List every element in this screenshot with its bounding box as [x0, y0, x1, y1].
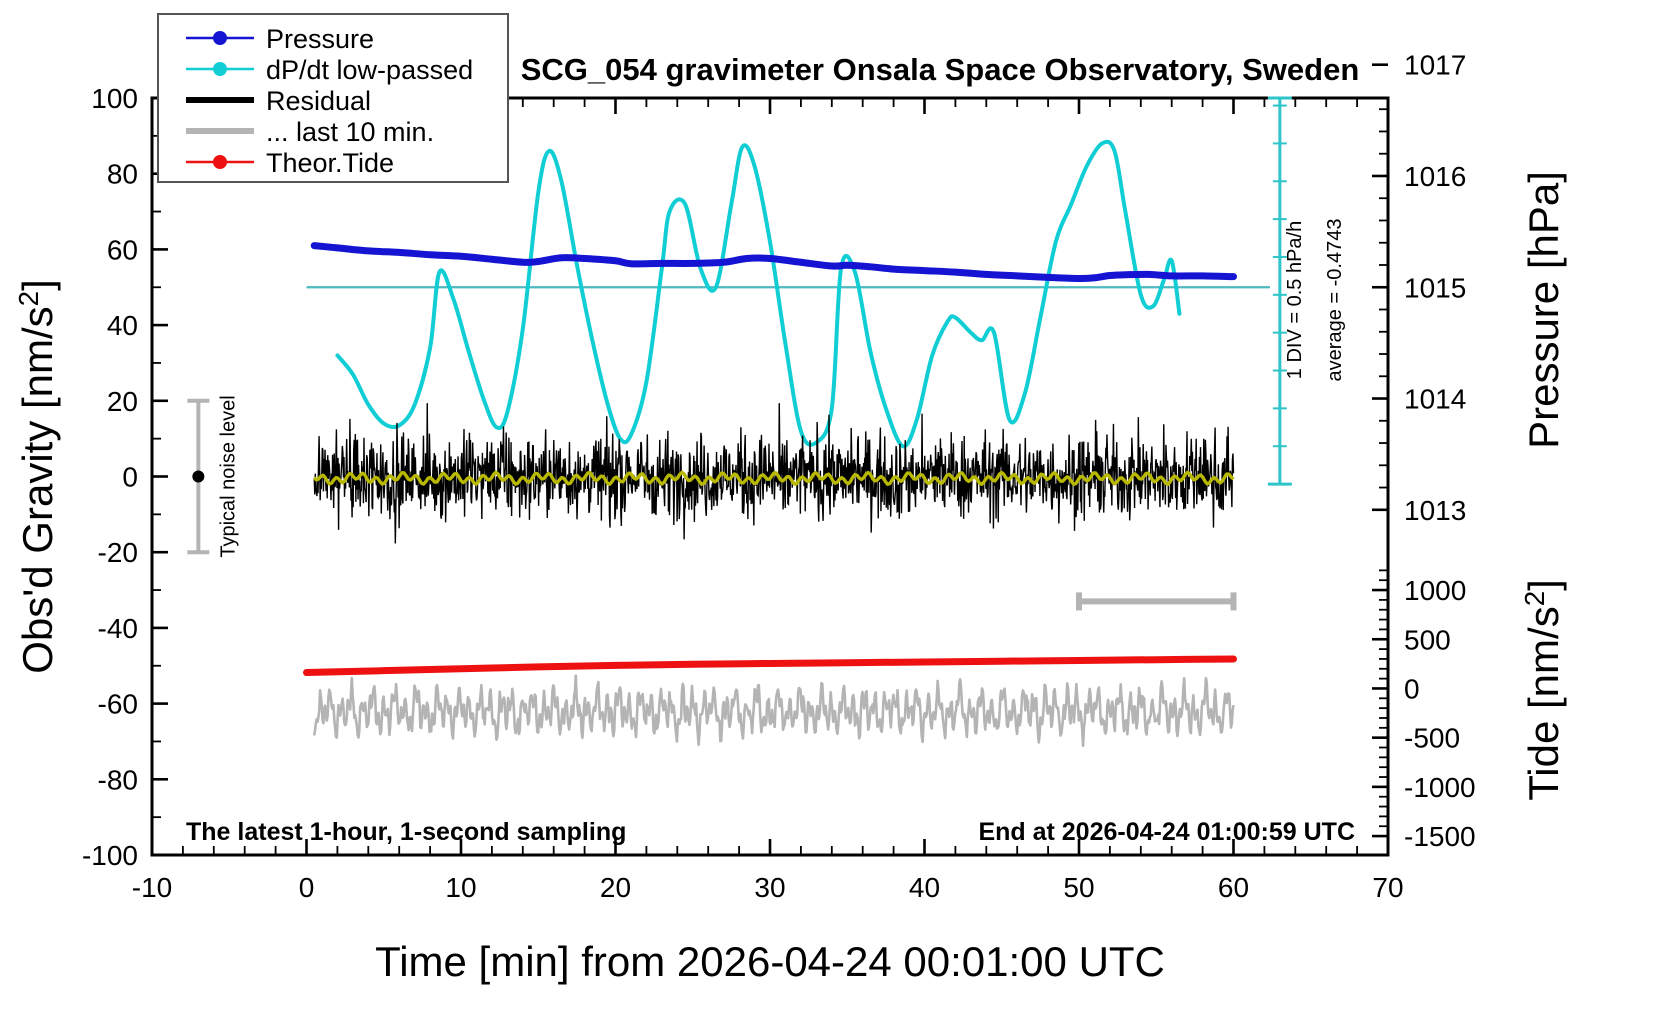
y-axis-title: Obs'd Gravity [nm/s2] — [13, 279, 61, 674]
y-tick-label: 0 — [122, 462, 138, 493]
pressure-tick-label: 1014 — [1404, 384, 1466, 415]
y-tick-label: 60 — [107, 234, 138, 265]
tide-tick-label: -1000 — [1404, 772, 1476, 803]
footer-left-note: The latest 1-hour, 1-second sampling — [186, 818, 626, 846]
x-tick-label: 40 — [909, 872, 940, 903]
chart-title: SCG_054 gravimeter Onsala Space Observat… — [521, 52, 1360, 87]
y-tick-label: 40 — [107, 310, 138, 341]
x-tick-label: 0 — [299, 872, 315, 903]
y-tick-label: -80 — [98, 764, 138, 795]
y-tick-label: 80 — [107, 159, 138, 190]
tide-tick-label: 0 — [1404, 673, 1420, 704]
noise-level-center-dot — [192, 471, 204, 483]
x-tick-label: 60 — [1218, 872, 1249, 903]
legend-label: Residual — [266, 86, 371, 116]
x-tick-label: 50 — [1063, 872, 1094, 903]
y-tick-label: 100 — [91, 83, 138, 114]
y-tick-label: 20 — [107, 386, 138, 417]
legend-label: dP/dt low-passed — [266, 55, 473, 85]
legend-marker — [213, 155, 227, 169]
y-tick-label: -20 — [98, 537, 138, 568]
pressure-axis-title: Pressure [hPa] — [1520, 171, 1567, 449]
theor-tide-curve — [307, 659, 1234, 673]
dpdt-average-label: average = -0.4743 — [1324, 219, 1346, 382]
tide-tick-label: -500 — [1404, 723, 1460, 754]
tide-tick-label: -1500 — [1404, 821, 1476, 852]
y-tick-label: -60 — [98, 689, 138, 720]
pressure-tick-label: 1015 — [1404, 272, 1466, 303]
pressure-tick-label: 1017 — [1404, 50, 1466, 81]
x-tick-label: 30 — [754, 872, 785, 903]
y-tick-label: -40 — [98, 613, 138, 644]
x-axis-title: Time [min] from 2026-04-24 00:01:00 UTC — [375, 938, 1165, 985]
x-tick-label: 70 — [1372, 872, 1403, 903]
tide-tick-label: 500 — [1404, 624, 1451, 655]
y-tick-label: -100 — [82, 840, 138, 871]
tide-tick-label: 1000 — [1404, 575, 1466, 606]
tide-axis-title: Tide [nm/s2] — [1519, 579, 1567, 801]
pressure-tick-label: 1016 — [1404, 161, 1466, 192]
footer-right-note: End at 2026-04-24 01:00:59 UTC — [978, 818, 1355, 846]
x-tick-label: 10 — [445, 872, 476, 903]
x-tick-label: 20 — [600, 872, 631, 903]
legend-label: Pressure — [266, 24, 374, 54]
noise-level-label: Typical noise level — [217, 395, 239, 557]
pressure-tick-label: 1013 — [1404, 495, 1466, 526]
legend-marker — [213, 62, 227, 76]
plot-figure: -10010203040506070Time [min] from 2026-0… — [0, 0, 1660, 1020]
dpdt-lowpassed-curve — [337, 142, 1179, 447]
last10min-curve — [314, 676, 1233, 746]
x-tick-label: -10 — [132, 872, 172, 903]
legend-label: Theor.Tide — [266, 148, 394, 178]
legend-marker — [213, 31, 227, 45]
legend-label: ... last 10 min. — [266, 117, 434, 147]
dpdt-div-label: 1 DIV = 0.5 hPa/h — [1284, 221, 1306, 379]
gravimeter-chart: -10010203040506070Time [min] from 2026-0… — [0, 0, 1660, 1020]
